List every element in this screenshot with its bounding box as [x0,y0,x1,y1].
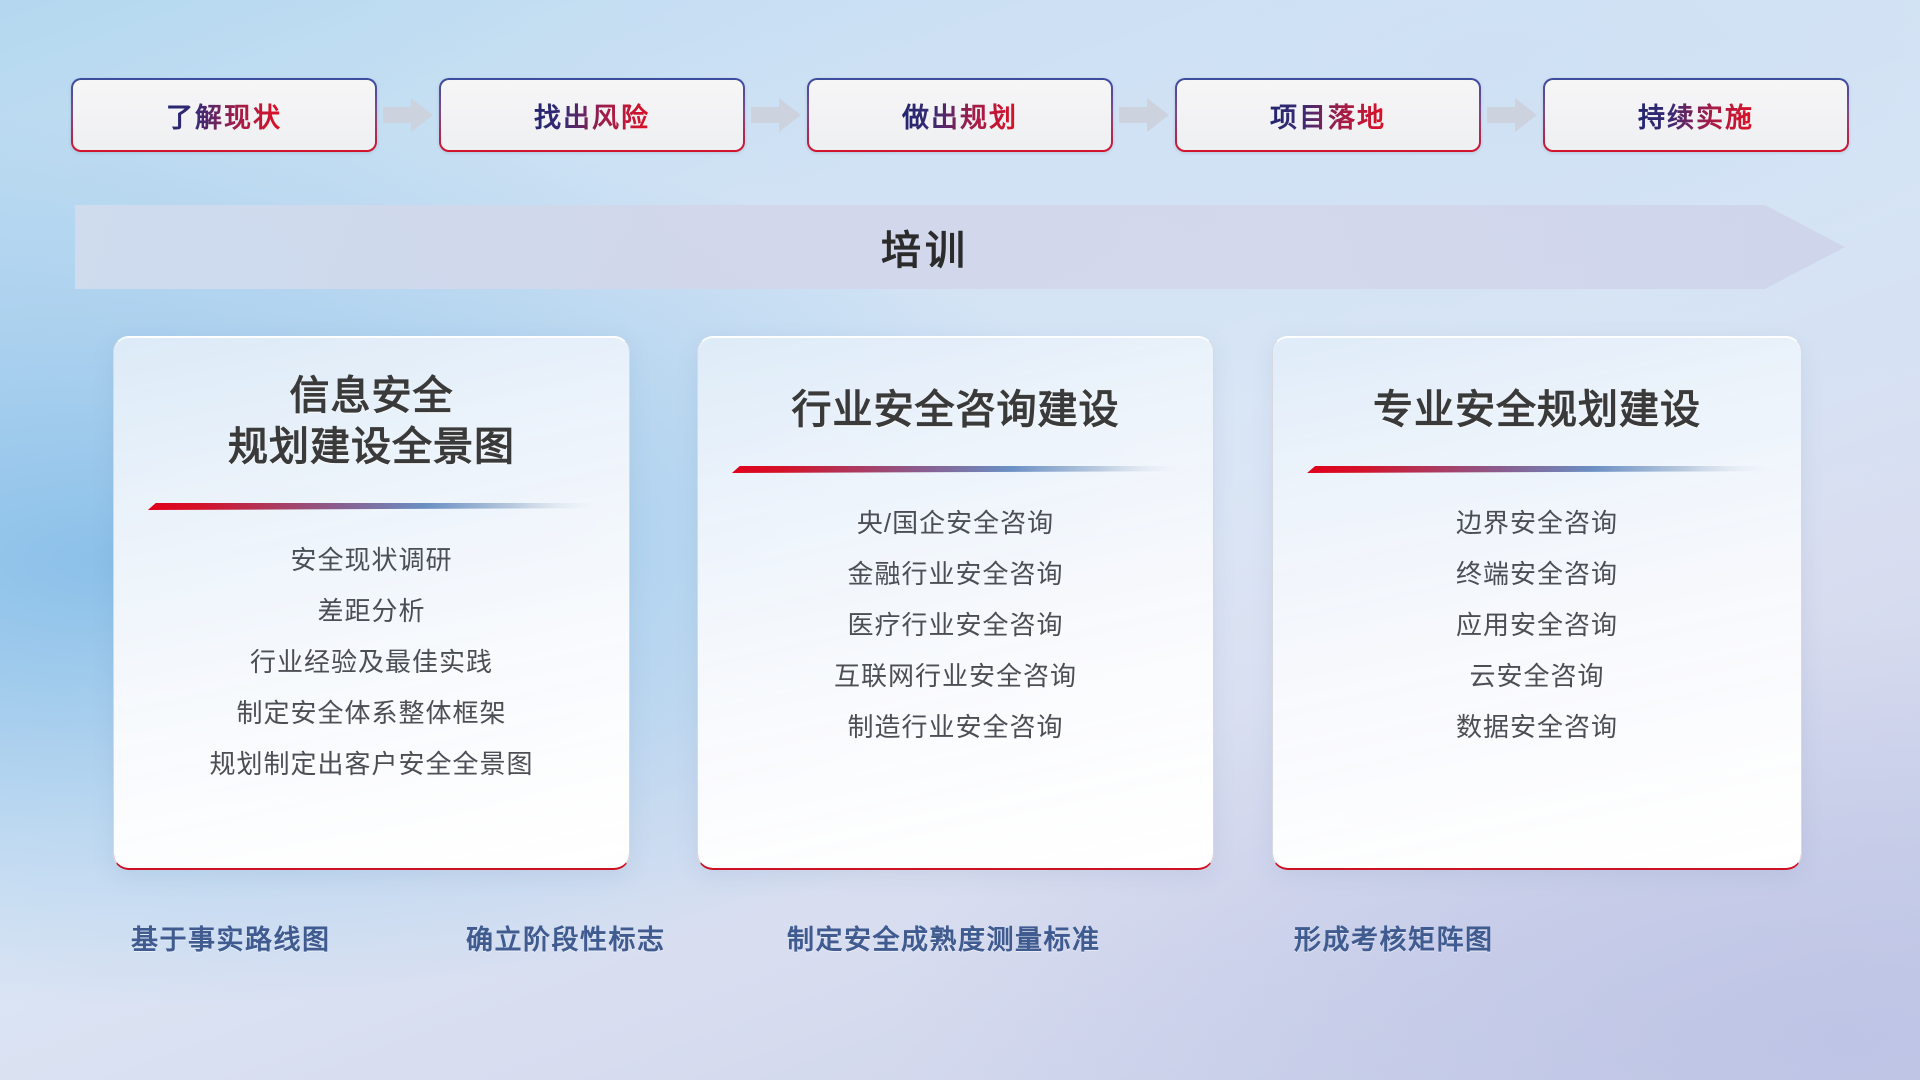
card-title-3: 专业安全规划建设 [1273,385,1801,436]
list-item: 数据安全咨询 [1456,708,1618,747]
list-item: 边界安全咨询 [1456,504,1618,543]
card-list-3: 边界安全咨询 终端安全咨询 应用安全咨询 云安全咨询 数据安全咨询 [1273,504,1801,747]
list-item: 制造行业安全咨询 [847,708,1063,747]
list-item: 规划制定出客户安全全景图 [209,745,533,784]
step-wrap-3: 做出规划 [807,78,1175,152]
card-divider-2 [698,462,1213,476]
step-wrap-1: 了解现状 [71,78,439,152]
captions-row: 基于事实路线图 确立阶段性标志 制定安全成熟度测量标准 形成考核矩阵图 [0,910,1920,964]
card-industry-security-consulting[interactable]: 行业安全咨询建设 央/国企安全咨询 金融行业安全咨询 [697,336,1214,870]
card-list-1: 安全现状调研 差距分析 行业经验及最佳实践 制定安全体系整体框架 规划制定出客户… [114,541,629,784]
card-divider-1 [114,499,629,513]
card-title-2: 行业安全咨询建设 [698,385,1213,436]
card-title-1-line2: 规划建设全景图 [130,422,613,473]
list-item: 医疗行业安全咨询 [847,606,1063,645]
step-box-3[interactable]: 做出规划 [807,78,1113,152]
step-label-3: 做出规划 [902,96,1018,135]
step-box-1[interactable]: 了解现状 [71,78,377,152]
right-arrow-icon [1113,78,1175,152]
card-title-3-line1: 专业安全规划建设 [1289,385,1785,436]
list-item: 金融行业安全咨询 [847,555,1063,594]
card-info-security-blueprint[interactable]: 信息安全 规划建设全景图 安全现状调研 差 [113,336,630,870]
banner-title: 培训 [75,205,1775,289]
card-title-1: 信息安全 规划建设全景图 [114,371,629,473]
caption-3: 制定安全成熟度测量标准 [787,910,1101,964]
cards-row: 信息安全 规划建设全景图 安全现状调研 差 [0,336,1920,870]
list-item: 行业经验及最佳实践 [250,643,493,682]
process-steps-row: 了解现状 找出风险 做出规划 项目落地 [0,78,1920,152]
list-item: 云安全咨询 [1469,657,1604,696]
step-box-4[interactable]: 项目落地 [1175,78,1481,152]
right-arrow-icon [745,78,807,152]
list-item: 央/国企安全咨询 [857,504,1054,543]
card-list-2: 央/国企安全咨询 金融行业安全咨询 医疗行业安全咨询 互联网行业安全咨询 制造行… [698,504,1213,747]
step-label-1: 了解现状 [166,96,282,135]
list-item: 制定安全体系整体框架 [236,694,506,733]
card-title-2-line1: 行业安全咨询建设 [714,385,1197,436]
card-title-1-line1: 信息安全 [130,371,613,422]
step-label-2: 找出风险 [534,96,650,135]
caption-2: 确立阶段性标志 [466,910,666,964]
step-label-4: 项目落地 [1270,96,1386,135]
training-banner: 培训 [75,205,1845,289]
list-item: 差距分析 [317,592,425,631]
step-box-2[interactable]: 找出风险 [439,78,745,152]
step-wrap-4: 项目落地 [1175,78,1543,152]
step-box-inner-2: 找出风险 [441,80,743,150]
step-box-inner-1: 了解现状 [73,80,375,150]
list-item: 安全现状调研 [290,541,452,580]
step-box-inner-5: 持续实施 [1545,80,1847,150]
list-item: 应用安全咨询 [1456,606,1618,645]
step-wrap-2: 找出风险 [439,78,807,152]
list-item: 互联网行业安全咨询 [834,657,1077,696]
step-label-5: 持续实施 [1638,96,1754,135]
right-arrow-icon [1481,78,1543,152]
step-box-inner-3: 做出规划 [809,80,1111,150]
step-box-5[interactable]: 持续实施 [1543,78,1849,152]
card-divider-3 [1273,462,1801,476]
right-arrow-icon [377,78,439,152]
card-professional-security-planning[interactable]: 专业安全规划建设 边界安全咨询 终端安全咨询 [1272,336,1802,870]
caption-4: 形成考核矩阵图 [1294,910,1494,964]
caption-1: 基于事实路线图 [131,910,331,964]
step-wrap-5: 持续实施 [1543,78,1849,152]
step-box-inner-4: 项目落地 [1177,80,1479,150]
list-item: 终端安全咨询 [1456,555,1618,594]
